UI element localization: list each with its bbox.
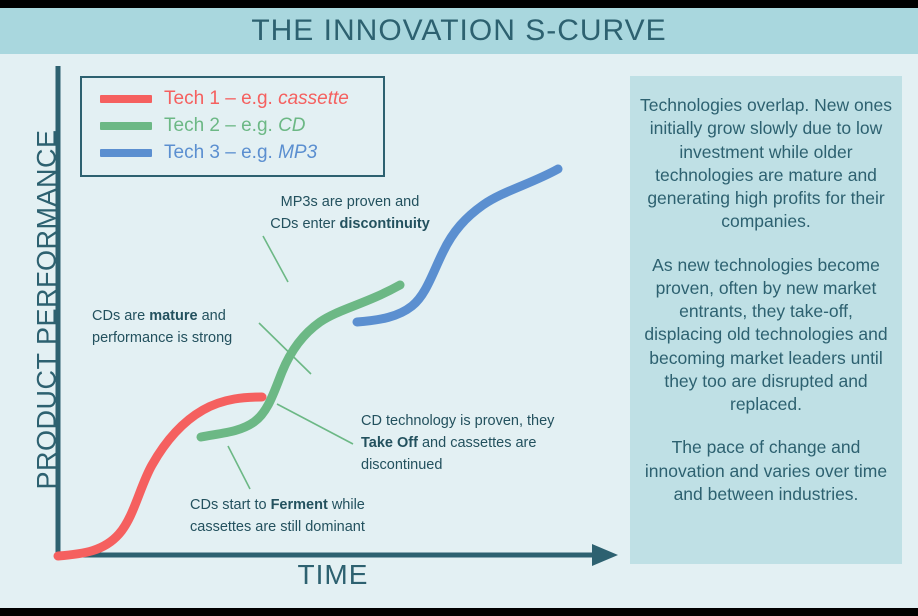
annotation-takeoff-keyword: Take Off — [361, 435, 418, 451]
annotation-ferment-line1: CDs start to — [190, 497, 271, 513]
legend-label-tech3: Tech 3 – e.g. MP3 — [164, 142, 317, 164]
x-axis-arrow-icon — [592, 544, 618, 566]
legend-swatch-tech1-icon — [100, 95, 152, 103]
leader-line-mp3 — [263, 236, 288, 282]
title-banner: THE INNOVATION S-CURVE — [0, 8, 918, 54]
annotation-takeoff-line2-tail: and cassettes are — [418, 435, 537, 451]
annotation-mature-line2: performance is strong — [92, 330, 232, 346]
explanation-paragraph-2: As new technologies become proven, often… — [640, 254, 892, 417]
legend-item-tech3[interactable]: Tech 3 – e.g. MP3 — [82, 139, 383, 166]
legend-item-tech2[interactable]: Tech 2 – e.g. CD — [82, 112, 383, 139]
explanation-panel: Technologies overlap. New ones initially… — [630, 76, 902, 564]
explanation-paragraph-1: Technologies overlap. New ones initially… — [640, 94, 892, 234]
annotation-takeoff-line3: discontinued — [361, 457, 442, 473]
annotation-takeoff-line1: CD technology is proven, they — [361, 413, 554, 429]
annotation-ferment-keyword: Ferment — [271, 497, 328, 513]
annotation-mp3-keyword: discontinuity — [340, 216, 430, 232]
annotation-mature-line1-tail: and — [198, 308, 226, 324]
annotation-mp3-discontinuity: MP3s are proven and CDs enter discontinu… — [250, 192, 450, 236]
annotation-cds-mature: CDs are mature and performance is strong — [92, 306, 272, 350]
legend-swatch-tech3-icon — [100, 149, 152, 157]
annotation-ferment-line1-tail: while — [328, 497, 365, 513]
slide-root: THE INNOVATION S-CURVE PRODUCT PERFORMAN… — [0, 0, 918, 616]
page-title: THE INNOVATION S-CURVE — [251, 14, 666, 48]
legend-item-tech1[interactable]: Tech 1 – e.g. cassette — [82, 85, 383, 112]
explanation-paragraph-3: The pace of change and innovation and va… — [640, 436, 892, 506]
leader-line-takeoff — [277, 404, 353, 444]
annotation-mature-keyword: mature — [149, 308, 197, 324]
leader-line-ferment — [228, 446, 250, 489]
annotation-cds-ferment: CDs start to Ferment while cassettes are… — [190, 495, 420, 539]
annotation-ferment-line2: cassettes are still dominant — [190, 519, 365, 535]
annotation-mp3-line1: MP3s are proven and — [281, 194, 420, 210]
legend[interactable]: Tech 1 – e.g. cassette Tech 2 – e.g. CD … — [80, 76, 385, 177]
chart-canvas: PRODUCT PERFORMANCE TIME Tech 1 – e. — [0, 54, 918, 608]
legend-label-tech2: Tech 2 – e.g. CD — [164, 115, 306, 137]
legend-label-tech1: Tech 1 – e.g. cassette — [164, 88, 349, 110]
legend-swatch-tech2-icon — [100, 122, 152, 130]
annotation-mp3-line2: CDs enter — [270, 216, 339, 232]
annotation-cd-take-off: CD technology is proven, they Take Off a… — [361, 411, 596, 476]
annotation-mature-line1: CDs are — [92, 308, 149, 324]
